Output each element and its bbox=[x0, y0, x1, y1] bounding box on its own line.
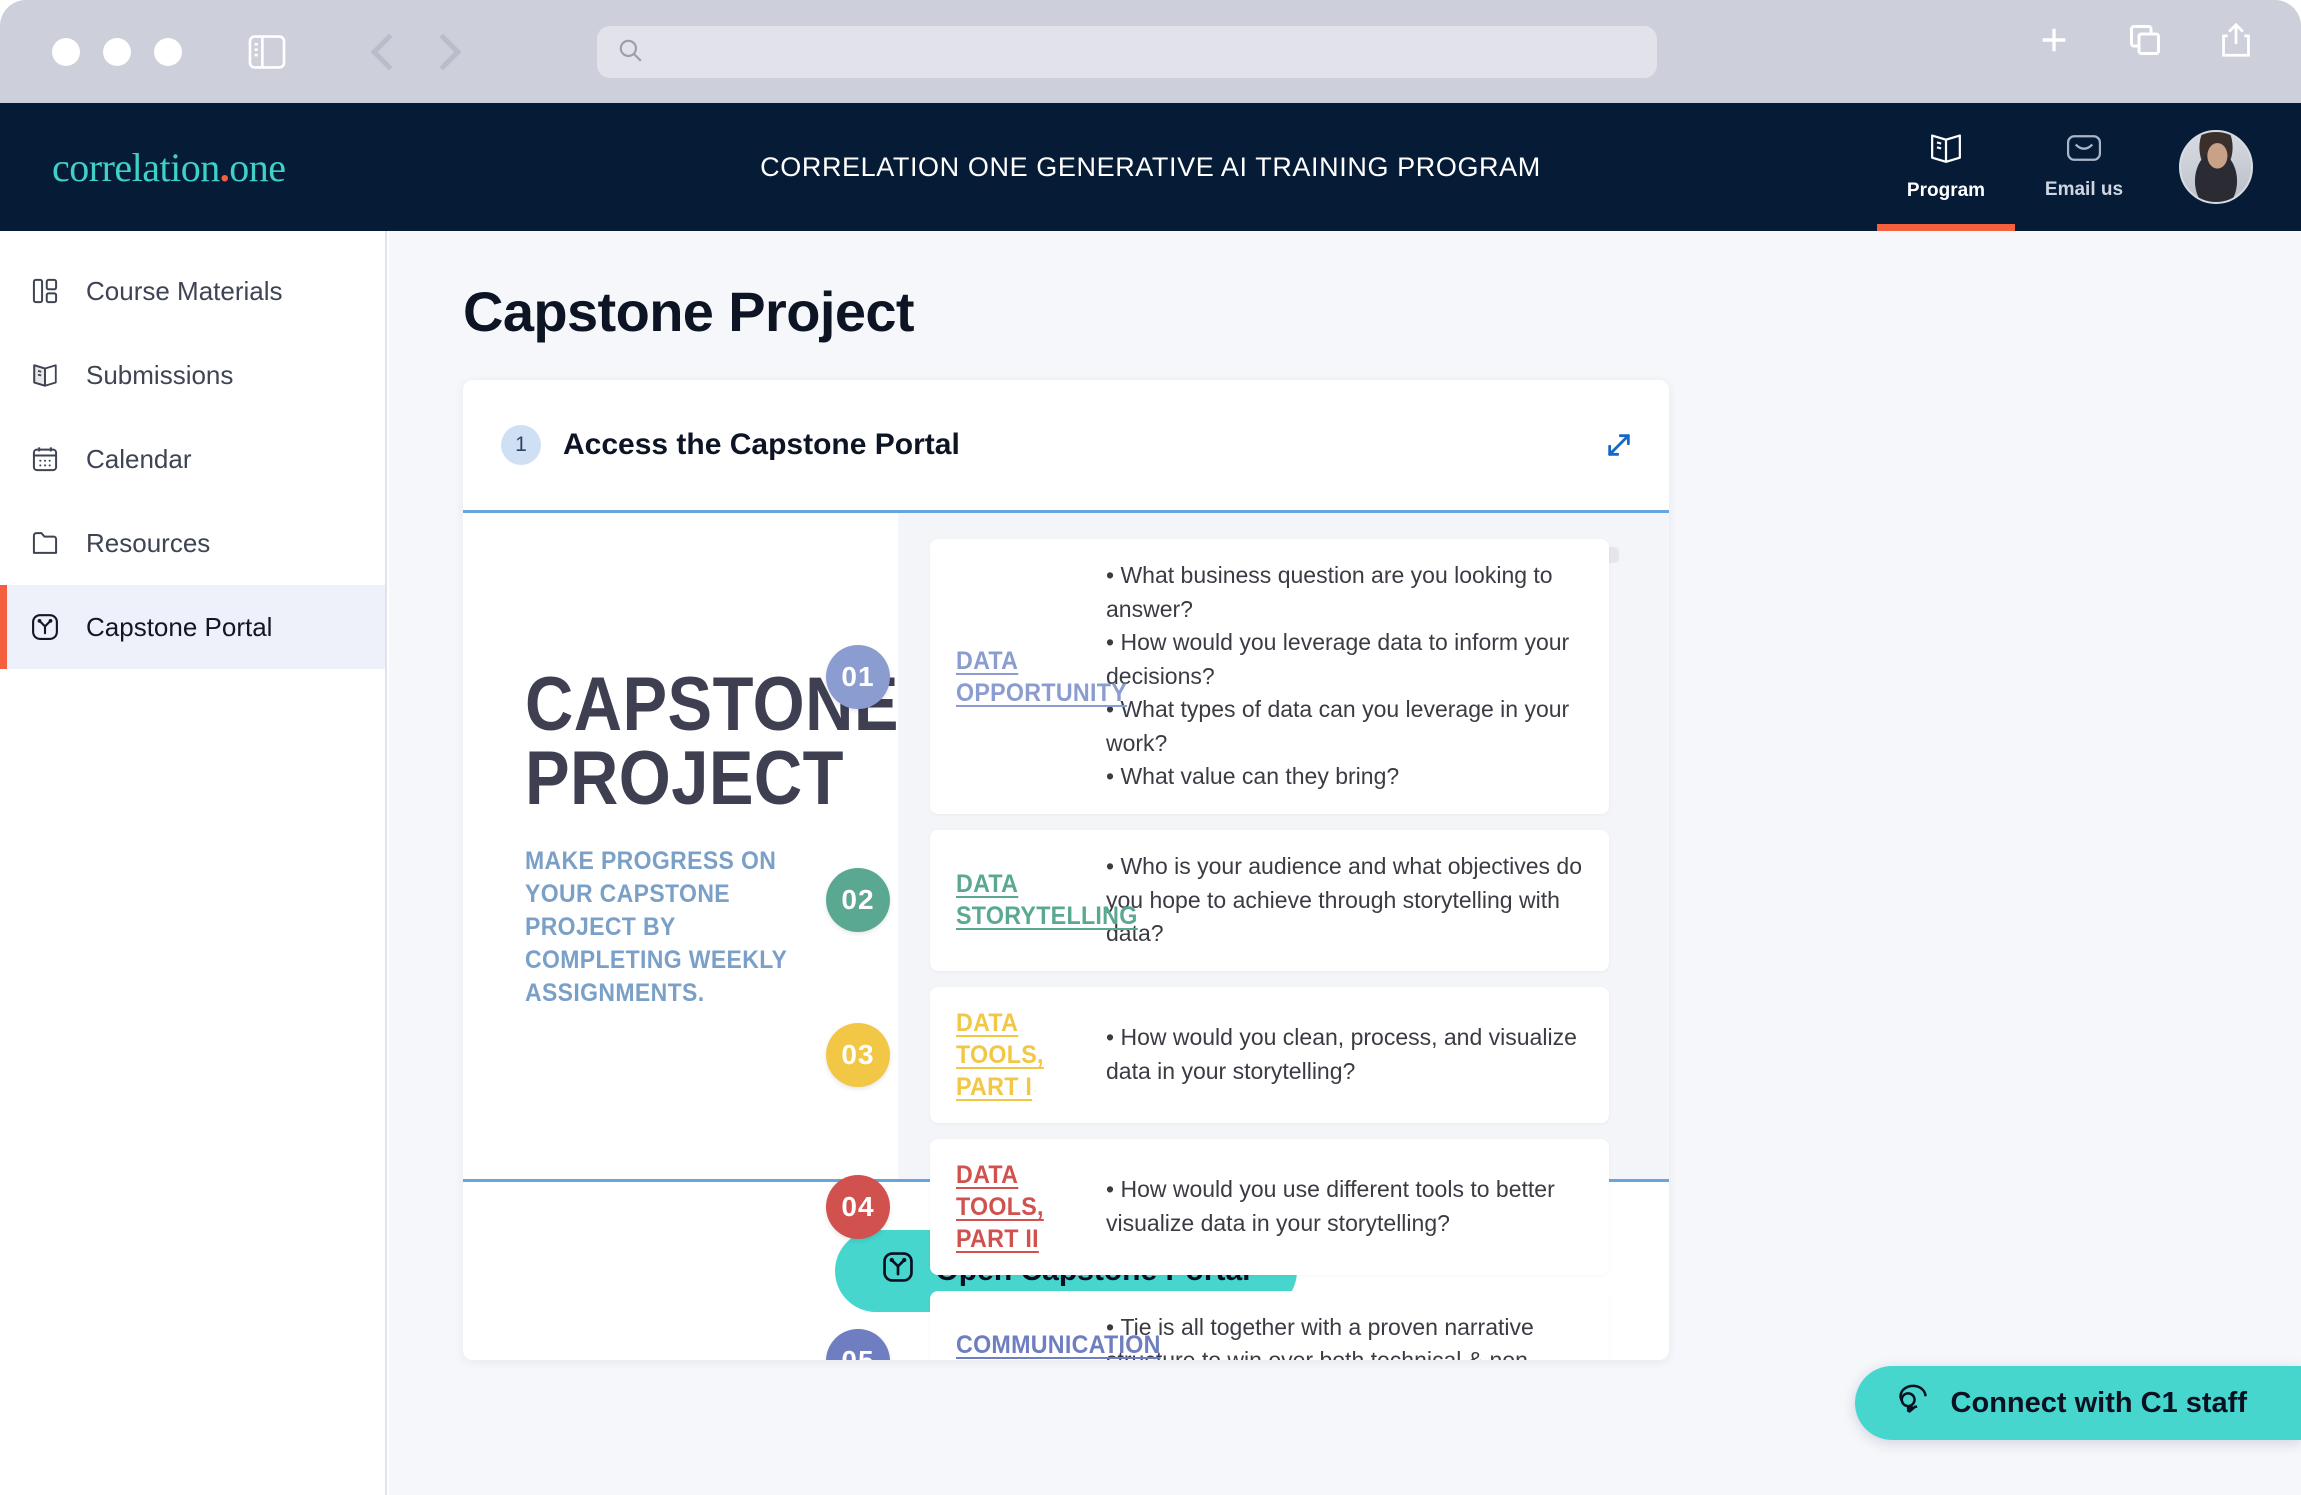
step-label-01[interactable]: DATA OPPORTUNITY bbox=[956, 645, 1094, 709]
capstone-fork-icon bbox=[30, 612, 60, 642]
correlation-one-logo[interactable]: correlation.one bbox=[52, 144, 286, 191]
infographic-step-row: 02 DATA STORYTELLING Who is your audienc… bbox=[898, 830, 1609, 971]
nav-item-program-label: Program bbox=[1907, 180, 1985, 202]
capstone-step-card: 1 Access the Capstone Portal CAPSTONE PR… bbox=[463, 380, 1669, 1360]
open-book-icon bbox=[30, 360, 60, 390]
infographic-subtitle: MAKE PROGRESS ON YOUR CAPSTONE PROJECT B… bbox=[525, 845, 838, 1010]
window-traffic-lights[interactable] bbox=[52, 38, 182, 66]
bullet: What types of data can you leverage in y… bbox=[1104, 693, 1583, 760]
infographic-title-line2: PROJECT bbox=[525, 742, 853, 816]
sidebar-item-label: Calendar bbox=[86, 444, 192, 475]
bullet: How would you clean, process, and visual… bbox=[1104, 1021, 1583, 1088]
step-card-05: COMMUNICATION STRATEGIES Tie is all toge… bbox=[930, 1291, 1609, 1360]
step-number-badge: 1 bbox=[501, 425, 541, 465]
card-header: 1 Access the Capstone Portal bbox=[463, 380, 1669, 510]
infographic-title-line1: CAPSTONE bbox=[525, 668, 853, 742]
logo-main-text: correlation bbox=[52, 145, 220, 190]
step-bullets-01: What business question are you looking t… bbox=[1104, 559, 1583, 794]
nav-item-email-us-label: Email us bbox=[2045, 179, 2123, 201]
browser-toolbar-right bbox=[2037, 22, 2253, 58]
main-content: Capstone Project 1 Access the Capstone P… bbox=[389, 231, 2301, 1495]
bullet: What value can they bring? bbox=[1104, 760, 1583, 794]
infographic-step-row: 04 DATA TOOLS, PART II How would you use… bbox=[898, 1139, 1609, 1275]
step-card-01: DATA OPPORTUNITY What business question … bbox=[930, 539, 1609, 814]
minimize-window-button[interactable] bbox=[103, 38, 131, 66]
share-icon[interactable] bbox=[2219, 22, 2253, 58]
browser-chrome bbox=[0, 0, 2301, 103]
app-header: correlation.one CORRELATION ONE GENERATI… bbox=[0, 103, 2301, 231]
expand-diagonal-icon[interactable] bbox=[1603, 429, 1635, 461]
search-icon bbox=[617, 37, 643, 68]
infographic-step-row: 03 DATA TOOLS, PART I How would you clea… bbox=[898, 987, 1609, 1123]
close-window-button[interactable] bbox=[52, 38, 80, 66]
card-title: Access the Capstone Portal bbox=[563, 428, 1603, 462]
book-open-icon bbox=[1928, 132, 1964, 170]
step-number-01: 01 bbox=[826, 645, 890, 709]
step-label-03[interactable]: DATA TOOLS, PART I bbox=[956, 1007, 1094, 1103]
capstone-infographic: CAPSTONE PROJECT MAKE PROGRESS ON YOUR C… bbox=[463, 510, 1669, 1182]
folder-icon bbox=[30, 528, 60, 558]
step-bullets-04: How would you use different tools to bet… bbox=[1104, 1173, 1583, 1240]
connect-with-staff-label: Connect with C1 staff bbox=[1951, 1387, 2247, 1420]
chat-bubbles-icon bbox=[1895, 1382, 1931, 1424]
infographic-step-row: 01 DATA OPPORTUNITY What business questi… bbox=[898, 539, 1609, 814]
sidebar-toggle-icon[interactable] bbox=[248, 35, 286, 69]
maximize-window-button[interactable] bbox=[154, 38, 182, 66]
infographic-title: CAPSTONE PROJECT bbox=[525, 668, 853, 815]
avatar[interactable] bbox=[2179, 130, 2253, 204]
step-bullets-05: Tie is all together with a proven narrat… bbox=[1104, 1311, 1583, 1360]
layout-blocks-icon bbox=[30, 276, 60, 306]
tab-overview-icon[interactable] bbox=[2127, 22, 2163, 58]
step-card-04: DATA TOOLS, PART II How would you use di… bbox=[930, 1139, 1609, 1275]
url-search-bar[interactable] bbox=[597, 26, 1657, 78]
calendar-icon bbox=[30, 444, 60, 474]
step-number-02: 02 bbox=[826, 868, 890, 932]
bullet: How would you use different tools to bet… bbox=[1104, 1173, 1583, 1240]
sidebar-item-label: Capstone Portal bbox=[86, 612, 272, 643]
envelope-icon bbox=[2066, 133, 2102, 169]
nav-item-email-us[interactable]: Email us bbox=[2015, 103, 2153, 231]
forward-chevron-icon[interactable] bbox=[430, 39, 456, 65]
sidebar-item-submissions[interactable]: Submissions bbox=[0, 333, 385, 417]
sidebar-item-label: Resources bbox=[86, 528, 210, 559]
infographic-left-panel: CAPSTONE PROJECT MAKE PROGRESS ON YOUR C… bbox=[463, 513, 898, 1179]
step-label-05[interactable]: COMMUNICATION STRATEGIES bbox=[956, 1329, 1094, 1360]
step-bullets-03: How would you clean, process, and visual… bbox=[1104, 1021, 1583, 1088]
logo-dot: . bbox=[220, 145, 230, 190]
app-screen: correlation.one CORRELATION ONE GENERATI… bbox=[0, 0, 2301, 1495]
back-chevron-icon[interactable] bbox=[376, 39, 402, 65]
step-number-04: 04 bbox=[826, 1175, 890, 1239]
page-title: Capstone Project bbox=[463, 279, 2301, 344]
connect-with-staff-widget[interactable]: Connect with C1 staff bbox=[1855, 1366, 2301, 1440]
plus-icon[interactable] bbox=[2037, 23, 2071, 57]
sidebar-item-capstone-portal[interactable]: Capstone Portal bbox=[0, 585, 385, 669]
sidebar-item-label: Submissions bbox=[86, 360, 233, 391]
nav-item-program[interactable]: Program bbox=[1877, 103, 2015, 231]
infographic-step-row: 05 COMMUNICATION STRATEGIES Tie is all t… bbox=[898, 1291, 1609, 1360]
step-number-03: 03 bbox=[826, 1023, 890, 1087]
search-input[interactable] bbox=[655, 41, 1615, 64]
sidebar-item-calendar[interactable]: Calendar bbox=[0, 417, 385, 501]
step-bullets-02: Who is your audience and what objectives… bbox=[1104, 850, 1583, 951]
step-card-03: DATA TOOLS, PART I How would you clean, … bbox=[930, 987, 1609, 1123]
step-label-02[interactable]: DATA STORYTELLING bbox=[956, 868, 1094, 932]
step-label-04[interactable]: DATA TOOLS, PART II bbox=[956, 1159, 1094, 1255]
sidebar-item-course-materials[interactable]: Course Materials bbox=[0, 249, 385, 333]
sidebar-item-resources[interactable]: Resources bbox=[0, 501, 385, 585]
header-nav: Program Email us bbox=[1877, 103, 2301, 231]
sidebar-item-label: Course Materials bbox=[86, 276, 283, 307]
bullet: Who is your audience and what objectives… bbox=[1104, 850, 1583, 951]
step-card-02: DATA STORYTELLING Who is your audience a… bbox=[930, 830, 1609, 971]
bullet: How would you leverage data to inform yo… bbox=[1104, 626, 1583, 693]
logo-tail-text: one bbox=[229, 145, 285, 190]
bullet: Tie is all together with a proven narrat… bbox=[1104, 1311, 1583, 1360]
browser-nav-arrows bbox=[376, 39, 456, 65]
bullet: What business question are you looking t… bbox=[1104, 559, 1583, 626]
sidebar: Course Materials Submissions bbox=[0, 231, 387, 1495]
infographic-steps-panel: 01 DATA OPPORTUNITY What business questi… bbox=[898, 513, 1669, 1179]
